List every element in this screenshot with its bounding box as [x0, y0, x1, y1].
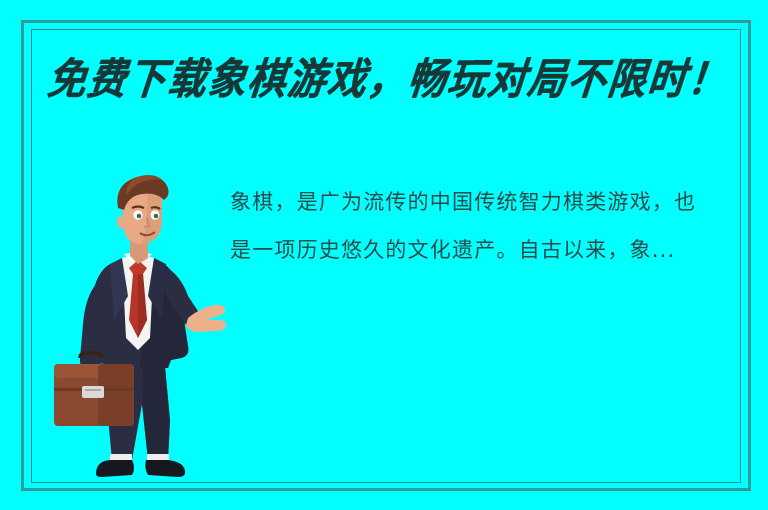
briefcase-clasp-line	[85, 389, 101, 391]
poster-canvas: 免费下载象棋游戏，畅玩对局不限时！ 象棋，是广为流传的中国传统智力棋类游戏，也是…	[0, 0, 768, 510]
trouser-leg-right-shade	[142, 356, 170, 460]
body-paragraph: 象棋，是广为流传的中国传统智力棋类游戏，也是一项历史悠久的文化遗产。自古以来，象…	[230, 178, 716, 274]
eye-right-pupil	[154, 214, 159, 219]
eye-left-pupil	[137, 214, 142, 219]
briefcase-clasp	[82, 386, 104, 398]
page-title: 免费下载象棋游戏，畅玩对局不限时！	[45, 53, 730, 105]
businessman-illustration	[52, 168, 228, 486]
shoe-left	[96, 460, 134, 477]
shoe-right	[145, 460, 185, 477]
